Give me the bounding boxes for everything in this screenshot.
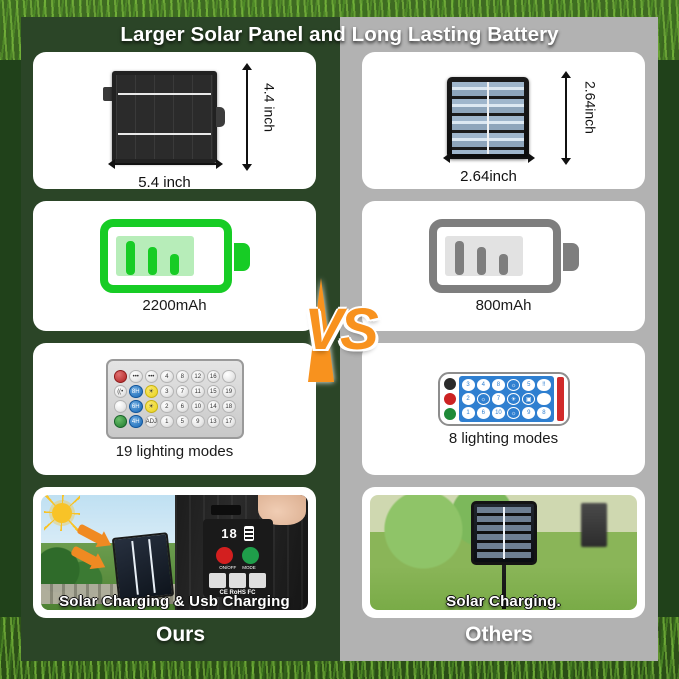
ours-battery-capacity-label: 2200mAh [142, 297, 206, 314]
display-value: 18 [221, 526, 237, 541]
width-dimension-line [114, 163, 217, 165]
comparison-panel: 4.4 inch 5.4 inch 2200mAh ••••••481216 (… [21, 17, 658, 661]
usb-port-icon [211, 505, 241, 515]
ours-footer-label: Ours [21, 623, 340, 647]
mode-button-icon [242, 547, 259, 564]
ours-photo-card: 18 ON/OFF MODE CE RoHS FC [33, 487, 316, 618]
width-dimension-line [449, 157, 529, 159]
solar-panel-diagram: 2.64inch 2.64inch [399, 65, 609, 177]
mode-button-label: MODE [242, 565, 256, 570]
ours-product-photo: 18 ON/OFF MODE CE RoHS FC [41, 495, 308, 610]
panel-width-label: 2.64inch [419, 168, 559, 185]
ours-battery-card: 2200mAh [33, 201, 316, 331]
others-footer-label: Others [340, 623, 658, 647]
panel-height-label: 4.4 inch [262, 83, 278, 132]
control-panel: 18 ON/OFF MODE CE RoHS FC [203, 519, 273, 597]
height-dimension-line [246, 69, 248, 165]
others-remote-card: 348☼5!! 2☼7☀▣ 1610☼98 8 lighting modes [362, 343, 645, 475]
solar-panel-photo-icon [471, 501, 537, 565]
others-photo-caption: Solar Charging. [370, 593, 637, 610]
battery-icon [429, 219, 579, 293]
sun-icon [52, 503, 72, 523]
battery-level-icon [244, 526, 254, 541]
others-lighting-modes-label: 8 lighting modes [449, 430, 558, 447]
solar-panel-icon [112, 71, 217, 163]
battery-icon [100, 219, 250, 293]
panel-side-tab-icon [216, 107, 225, 127]
ours-column: 4.4 inch 5.4 inch 2200mAh ••••••481216 (… [21, 17, 340, 661]
arrow-icon [76, 523, 104, 544]
others-solar-panel-card: 2.64inch 2.64inch [362, 52, 645, 189]
ours-lighting-modes-label: 19 lighting modes [116, 443, 234, 460]
ours-solar-panel-card: 4.4 inch 5.4 inch [33, 52, 316, 189]
solar-panel-icon [447, 77, 529, 159]
power-button-label: ON/OFF [219, 565, 236, 570]
ours-photo-caption: Solar Charging & Usb Charging [41, 593, 308, 610]
panel-width-label: 5.4 inch [100, 174, 230, 190]
others-battery-capacity-label: 800mAh [476, 297, 532, 314]
height-dimension-line [565, 77, 567, 159]
others-photo-card: Solar Charging. [362, 487, 645, 618]
others-column: 2.64inch 2.64inch 800mAh 348☼5!! 2☼7☀▣ [340, 17, 658, 661]
others-product-photo: Solar Charging. [370, 495, 637, 610]
remote-control-icon: ••••••481216 ((•8H☀37111519 6H☀26101418 … [106, 359, 244, 439]
panel-height-label: 2.64inch [583, 81, 599, 134]
remote-control-icon: 348☼5!! 2☼7☀▣ 1610☼98 [438, 372, 570, 426]
ours-remote-card: ••••••481216 ((•8H☀37111519 6H☀26101418 … [33, 343, 316, 475]
remote-strip-icon [557, 377, 564, 421]
power-button-icon [216, 547, 233, 564]
solar-panel-diagram: 4.4 inch 5.4 inch [70, 65, 280, 177]
others-battery-card: 800mAh [362, 201, 645, 331]
house-door-scenery [581, 503, 607, 547]
solar-panel-photo-icon [111, 532, 173, 602]
